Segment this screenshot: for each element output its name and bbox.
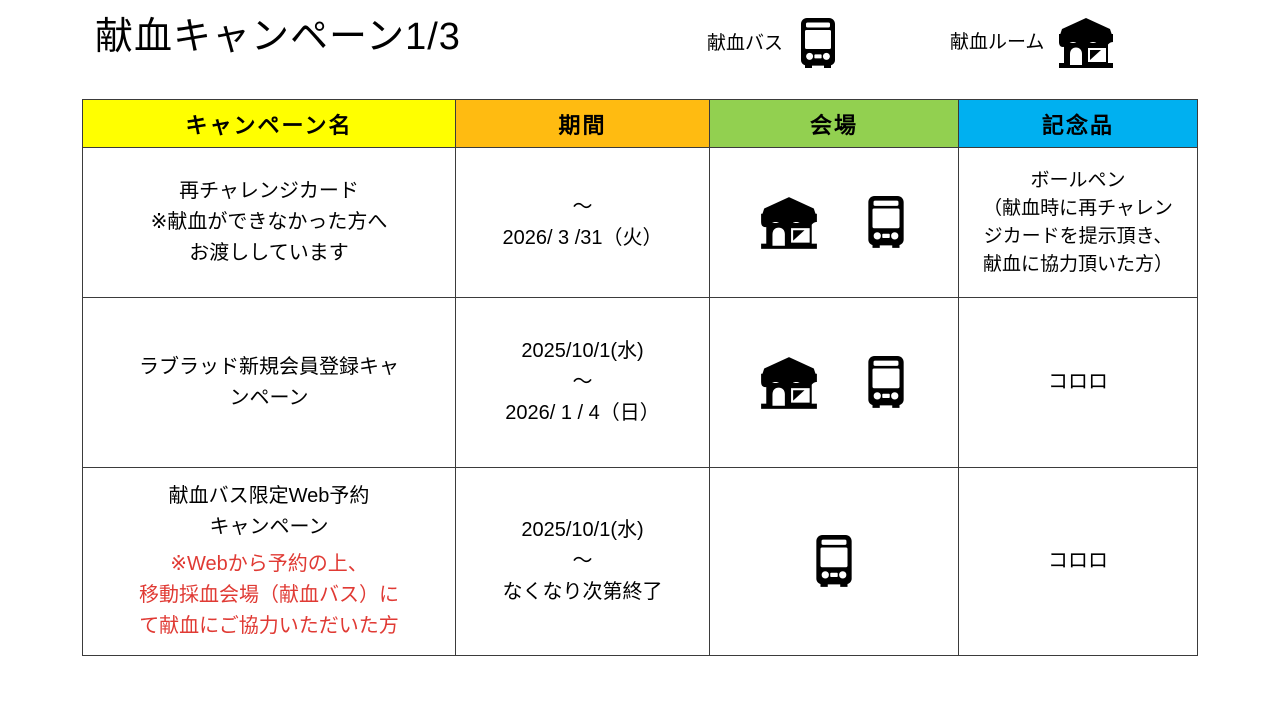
page-title: 献血キャンペーン1/3 (95, 12, 461, 62)
gift-text: ボールペン （献血時に再チャレン ジカードを提示頂き、 献血に協力頂いた方） (959, 161, 1197, 285)
cell-period: ～ 2026/ 3 /31（火） (456, 148, 710, 298)
venue-icon-group (710, 535, 958, 589)
column-header-gift: 記念品 (959, 100, 1198, 148)
campaign-name-text: 再チャレンジカード ※献血ができなかった方へ お渡ししています (83, 170, 455, 275)
cell-venue (710, 298, 959, 468)
column-header-campaign-name: キャンペーン名 (83, 100, 456, 148)
cell-gift: コロロ (959, 298, 1198, 468)
column-header-venue: 会場 (710, 100, 959, 148)
campaign-name-note-text: ※Webから予約の上、 移動採血会場（献血バス）に て献血にご協力いただいた方 (83, 549, 455, 648)
room-icon (758, 197, 820, 249)
table-row: 献血バス限定Web予約 キャンペーン ※Webから予約の上、 移動採血会場（献血… (83, 468, 1198, 656)
period-text: ～ 2026/ 3 /31（火） (456, 186, 709, 260)
period-text: 2025/10/1(水) ～ 2026/ 1 / 4（日） (456, 330, 709, 435)
gift-text: コロロ (959, 361, 1197, 404)
legend-bus: 献血バス (707, 18, 841, 70)
cell-campaign-name: 再チャレンジカード ※献血ができなかった方へ お渡ししています (83, 148, 456, 298)
cell-period: 2025/10/1(水) ～ なくなり次第終了 (456, 468, 710, 656)
campaign-name-text: 献血バス限定Web予約 キャンペーン (83, 475, 455, 549)
cell-campaign-name: 献血バス限定Web予約 キャンペーン ※Webから予約の上、 移動採血会場（献血… (83, 468, 456, 656)
cell-period: 2025/10/1(水) ～ 2026/ 1 / 4（日） (456, 298, 710, 468)
table-row: 再チャレンジカード ※献血ができなかった方へ お渡ししています ～ 2026/ … (83, 148, 1198, 298)
venue-icon-group (710, 196, 958, 250)
cell-venue (710, 468, 959, 656)
legend-bus-label: 献血バス (707, 31, 783, 57)
bus-icon (795, 18, 841, 70)
bus-icon (862, 196, 910, 250)
cell-venue (710, 148, 959, 298)
table-row: ラブラッド新規会員登録キャ ンペーン 2025/10/1(水) ～ 2026/ … (83, 298, 1198, 468)
room-icon (758, 357, 820, 409)
campaign-table: キャンペーン名 期間 会場 記念品 再チャレンジカード ※献血ができなかった方へ… (82, 99, 1198, 656)
table-header-row: キャンペーン名 期間 会場 記念品 (83, 100, 1198, 148)
column-header-period: 期間 (456, 100, 710, 148)
bus-icon (862, 356, 910, 410)
cell-gift: ボールペン （献血時に再チャレン ジカードを提示頂き、 献血に協力頂いた方） (959, 148, 1198, 298)
period-text: 2025/10/1(水) ～ なくなり次第終了 (456, 509, 709, 614)
cell-campaign-name: ラブラッド新規会員登録キャ ンペーン (83, 298, 456, 468)
legend-room-label: 献血ルーム (950, 30, 1044, 56)
venue-icon-group (710, 356, 958, 410)
legend-room: 献血ルーム (950, 18, 1116, 68)
gift-text: コロロ (959, 540, 1197, 583)
slide-canvas: 献血キャンペーン1/3 献血バス 献血ルーム (0, 0, 1280, 720)
room-icon (1056, 18, 1116, 68)
bus-icon (810, 535, 858, 589)
cell-gift: コロロ (959, 468, 1198, 656)
campaign-name-text: ラブラッド新規会員登録キャ ンペーン (83, 346, 455, 420)
